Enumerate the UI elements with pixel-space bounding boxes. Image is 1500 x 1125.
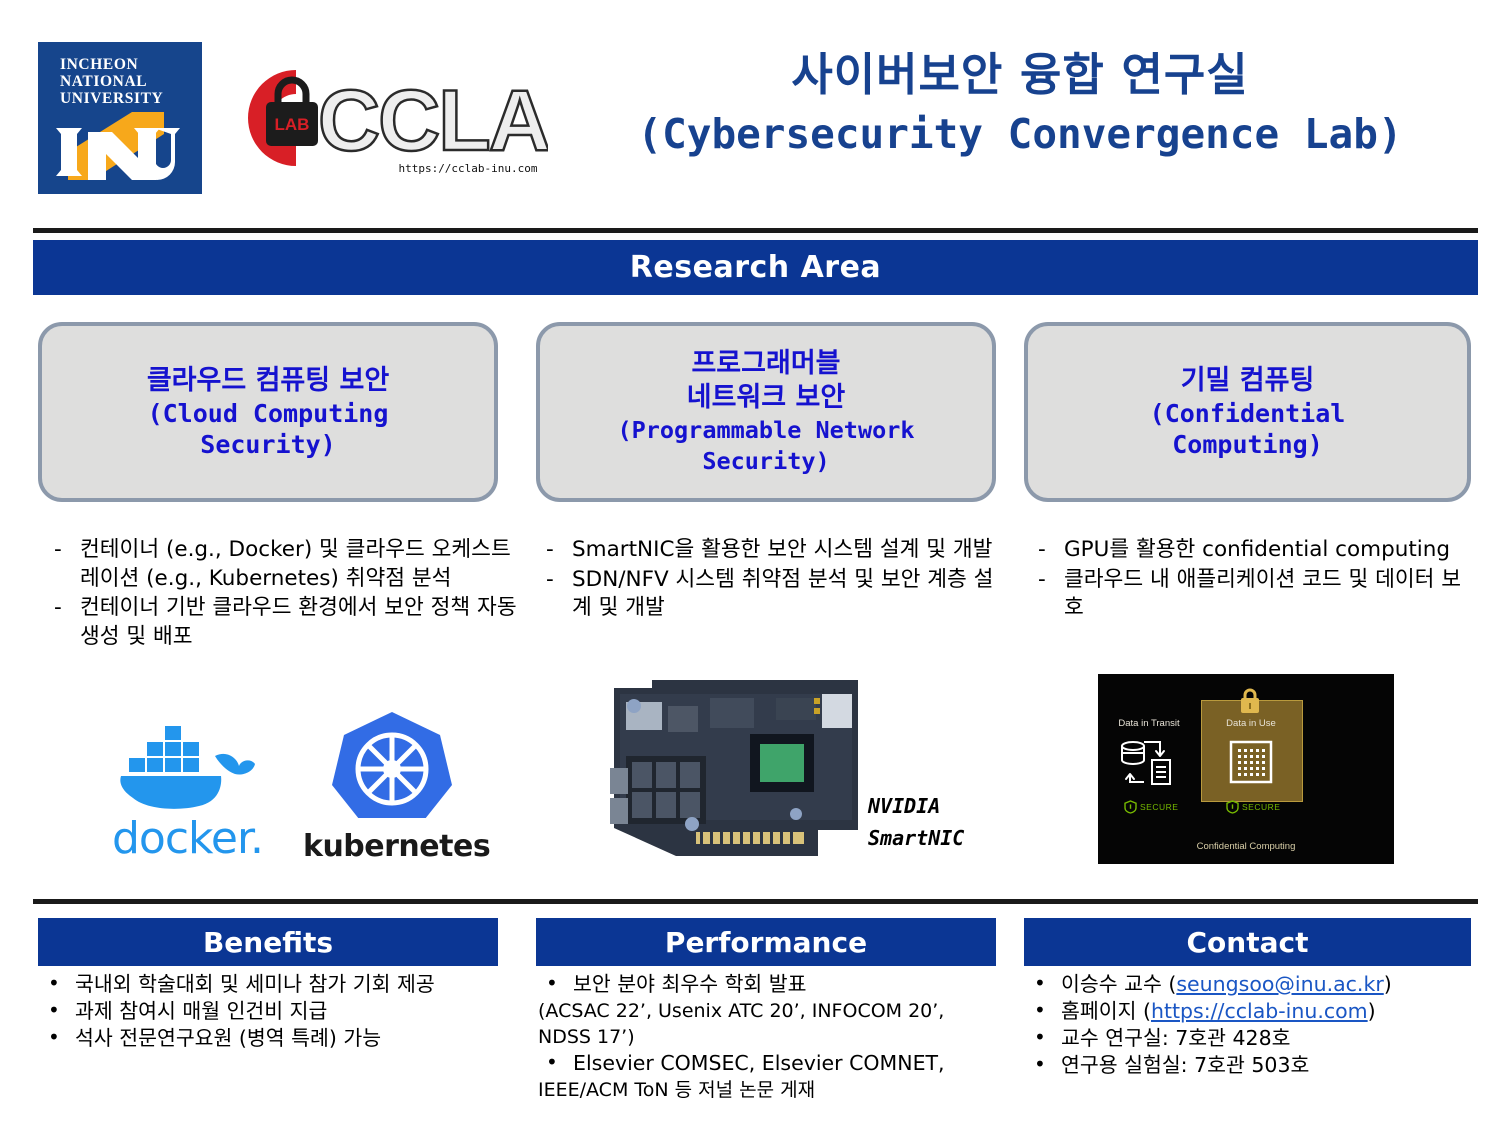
research-bullets-cloud: - 컨테이너 (e.g., Docker) 및 클라우드 오케스트레이션 (e.… [48, 536, 518, 652]
shield-icon [1124, 800, 1137, 814]
poster-title-english: (Cybersecurity Convergence Lab) [560, 106, 1480, 162]
performance-heading-label: Performance [665, 926, 867, 959]
svg-text:LAB: LAB [275, 115, 310, 134]
homepage-link[interactable]: https://cclab-inu.com [1151, 999, 1368, 1023]
inu-monogram-icon [48, 102, 192, 190]
docker-logo: docker. [95, 706, 280, 866]
performance-heading: Performance [536, 918, 996, 966]
list-item: • 교수 연구실: 7호관 428호 [1024, 1025, 1471, 1052]
contact-heading-label: Contact [1187, 926, 1309, 959]
list-item: - 컨테이너 (e.g., Docker) 및 클라우드 오케스트레이션 (e.… [48, 536, 518, 593]
poster-header: INCHEON NATIONAL UNIVERSITY LAB CCLAB ht… [0, 0, 1500, 218]
docker-whale-icon [95, 706, 280, 811]
lab-location: 연구용 실험실: 7호관 503호 [1061, 1053, 1309, 1077]
contact-body: • 이승수 교수 (seungsoo@inu.ac.kr) • 홈페이지 (ht… [1024, 966, 1471, 1079]
bullet-marker: • [48, 970, 60, 997]
contact-suffix: ) [1368, 999, 1376, 1023]
secure-label: SECURE [1140, 802, 1178, 812]
list-item: - 클라우드 내 애플리케이션 코드 및 데이터 보호 [1032, 566, 1477, 623]
secure-badge-transit: SECURE [1124, 800, 1178, 814]
smartnic-board-illustration [600, 672, 890, 862]
list-item: • 보안 분야 최우수 학회 발표 [536, 971, 996, 998]
bullet-marker: • [48, 997, 60, 1024]
poster-title: 사이버보안 융합 연구실 (Cybersecurity Convergence … [560, 46, 1480, 162]
kubernetes-label-wrap: kubernetes [303, 829, 481, 864]
list-item-label: SDN/NFV 시스템 취약점 분석 및 보안 계층 설계 및 개발 [572, 567, 993, 621]
dash-marker: - [546, 536, 554, 565]
list-item: - SmartNIC을 활용한 보안 시스템 설계 및 개발 [540, 536, 1000, 565]
research-area-label: Research Area [630, 250, 881, 285]
list-item: • 홈페이지 (https://cclab-inu.com) [1024, 998, 1471, 1025]
card-title-korean-line1: 프로그래머블 [691, 347, 840, 381]
list-item-label: 컨테이너 기반 클라우드 환경에서 보안 정책 자동 생성 및 배포 [80, 595, 517, 649]
research-bullets-network: - SmartNIC을 활용한 보안 시스템 설계 및 개발 - SDN/NFV… [540, 536, 1000, 624]
secure-chip-icon [1223, 736, 1279, 788]
benefits-heading: Benefits [38, 918, 498, 966]
card-title-korean: 클라우드 컴퓨팅 보안 [147, 364, 389, 398]
section-benefits: Benefits • 국내외 학술대회 및 세미나 참가 기회 제공 • 과제 … [38, 918, 498, 1052]
research-area-band: Research Area [33, 240, 1478, 295]
bullet-marker: • [48, 1024, 60, 1051]
list-item: - GPU를 활용한 confidential computing [1032, 536, 1477, 565]
benefits-body: • 국내외 학술대회 및 세미나 참가 기회 제공 • 과제 참여시 매월 인건… [38, 966, 498, 1052]
incheon-national-university-logo: INCHEON NATIONAL UNIVERSITY [38, 42, 202, 194]
bullet-marker: • [1034, 970, 1046, 997]
dash-marker: - [54, 594, 62, 623]
office-location: 교수 연구실: 7호관 428호 [1061, 1026, 1291, 1050]
university-name-text: INCHEON NATIONAL UNIVERSITY [60, 56, 163, 107]
card-title-english-line1: (Programmable Network [617, 415, 914, 446]
docker-label-wrap: docker. [95, 813, 280, 864]
bullet-marker: • [1034, 997, 1046, 1024]
contact-prefix: 이승수 교수 ( [1061, 972, 1176, 996]
section-performance: Performance • 보안 분야 최우수 학회 발표 (ACSAC 22’… [536, 918, 996, 1103]
poster-root: INCHEON NATIONAL UNIVERSITY LAB CCLAB ht… [0, 0, 1500, 1125]
list-item-label: 클라우드 내 애플리케이션 코드 및 데이터 보호 [1064, 567, 1461, 621]
divider-bottom [33, 899, 1478, 904]
data-transit-icon [1118, 736, 1182, 788]
list-item: - SDN/NFV 시스템 취약점 분석 및 보안 계층 설계 및 개발 [540, 566, 1000, 623]
card-title-english-line2: Security) [200, 429, 335, 460]
confidential-computing-diagram: Data in Transit Data in Use [1098, 674, 1394, 864]
list-item-label: SmartNIC을 활용한 보안 시스템 설계 및 개발 [572, 537, 992, 562]
dash-marker: - [54, 536, 62, 565]
kubernetes-helm-icon [303, 706, 481, 818]
card-title-english-line1: (Confidential [1150, 398, 1346, 429]
card-title-korean: 기밀 컴퓨팅 [1181, 364, 1315, 398]
list-item-label: GPU를 활용한 confidential computing [1064, 537, 1450, 562]
card-title-korean-line2: 네트워크 보안 [687, 381, 845, 415]
bullet-marker: • [546, 970, 558, 997]
list-item-label: 컨테이너 (e.g., Docker) 및 클라우드 오케스트레이션 (e.g.… [80, 537, 511, 591]
university-name-line2: NATIONAL [60, 73, 163, 90]
shield-icon [1226, 800, 1239, 814]
section-contact: Contact • 이승수 교수 (seungsoo@inu.ac.kr) • … [1024, 918, 1471, 1079]
kubernetes-logo: kubernetes [303, 706, 481, 866]
list-item: • 국내외 학술대회 및 세미나 참가 기회 제공 [38, 971, 498, 998]
data-in-use-label: Data in Use [1211, 718, 1291, 729]
list-item: - 컨테이너 기반 클라우드 환경에서 보안 정책 자동 생성 및 배포 [48, 594, 518, 651]
bullet-marker: • [1034, 1051, 1046, 1078]
list-item: • 석사 전문연구요원 (병역 특례) 가능 [38, 1025, 498, 1052]
cloud-technology-logos: docker. kubernetes [95, 706, 485, 866]
research-card-programmable-network-security[interactable]: 프로그래머블 네트워크 보안 (Programmable Network Sec… [536, 322, 996, 502]
cclab-logo: LAB CCLAB https://cclab-inu.com [218, 58, 548, 188]
list-item-label: 과제 참여시 매월 인건비 지급 [75, 999, 327, 1023]
poster-title-korean: 사이버보안 융합 연구실 [560, 46, 1480, 104]
bullet-marker: • [546, 1049, 558, 1076]
research-area-cards: 클라우드 컴퓨팅 보안 (Cloud Computing Security) 프… [0, 322, 1500, 504]
cclab-url-text: https://cclab-inu.com [378, 162, 558, 175]
kubernetes-label: kubernetes [303, 829, 490, 864]
list-item: • 과제 참여시 매월 인건비 지급 [38, 998, 498, 1025]
card-title-english-line1: (Cloud Computing [148, 398, 389, 429]
dash-marker: - [546, 566, 554, 595]
research-card-confidential-computing[interactable]: 기밀 컴퓨팅 (Confidential Computing) [1024, 322, 1471, 502]
performance-venues-line: (ACSAC 22’, Usenix ATC 20’, INFOCOM 20’,… [536, 998, 996, 1050]
smartnic-caption: NVIDIA SmartNIC [868, 790, 998, 854]
lock-icon [1238, 688, 1262, 714]
email-link[interactable]: seungsoo@inu.ac.kr [1176, 972, 1383, 996]
data-in-transit-label: Data in Transit [1110, 718, 1188, 729]
dash-marker: - [1038, 536, 1046, 565]
dash-marker: - [1038, 566, 1046, 595]
performance-body: • 보안 분야 최우수 학회 발표 (ACSAC 22’, Usenix ATC… [536, 966, 996, 1103]
divider-top [33, 228, 1478, 233]
list-item: • Elsevier COMSEC, Elsevier COMNET, [536, 1050, 996, 1077]
secure-badge-in-use: SECURE [1226, 800, 1280, 814]
svg-text:CCLAB: CCLAB [318, 73, 548, 169]
list-item-label: 국내외 학술대회 및 세미나 참가 기회 제공 [75, 972, 435, 996]
contact-prefix: 홈페이지 ( [1061, 999, 1151, 1023]
smartnic-caption-line2: SmartNIC [868, 822, 998, 854]
nvidia-smartnic-photo [600, 672, 890, 862]
list-item-label: Elsevier COMSEC, Elsevier COMNET, [573, 1051, 945, 1075]
contact-suffix: ) [1384, 972, 1392, 996]
benefits-heading-label: Benefits [203, 926, 333, 959]
university-name-line1: INCHEON [60, 56, 163, 73]
docker-label: docker. [112, 813, 263, 864]
list-item-label: 석사 전문연구요원 (병역 특례) 가능 [75, 1026, 381, 1050]
card-title-english-line2: Security) [702, 446, 829, 477]
card-title-english-line2: Computing) [1172, 429, 1323, 460]
list-item: • 연구용 실험실: 7호관 503호 [1024, 1052, 1471, 1079]
smartnic-caption-line1: NVIDIA [868, 790, 998, 822]
contact-heading: Contact [1024, 918, 1471, 966]
secure-label: SECURE [1242, 802, 1280, 812]
bullet-marker: • [1034, 1024, 1046, 1051]
performance-journals-line: IEEE/ACM ToN 등 저널 논문 게재 [536, 1077, 996, 1103]
list-item-label: 보안 분야 최우수 학회 발표 [573, 972, 807, 996]
research-bullets-confidential: - GPU를 활용한 confidential computing - 클라우드… [1032, 536, 1477, 624]
confidential-computing-footer-label: Confidential Computing [1098, 841, 1394, 852]
list-item: • 이승수 교수 (seungsoo@inu.ac.kr) [1024, 971, 1471, 998]
research-card-cloud-computing-security[interactable]: 클라우드 컴퓨팅 보안 (Cloud Computing Security) [38, 322, 498, 502]
